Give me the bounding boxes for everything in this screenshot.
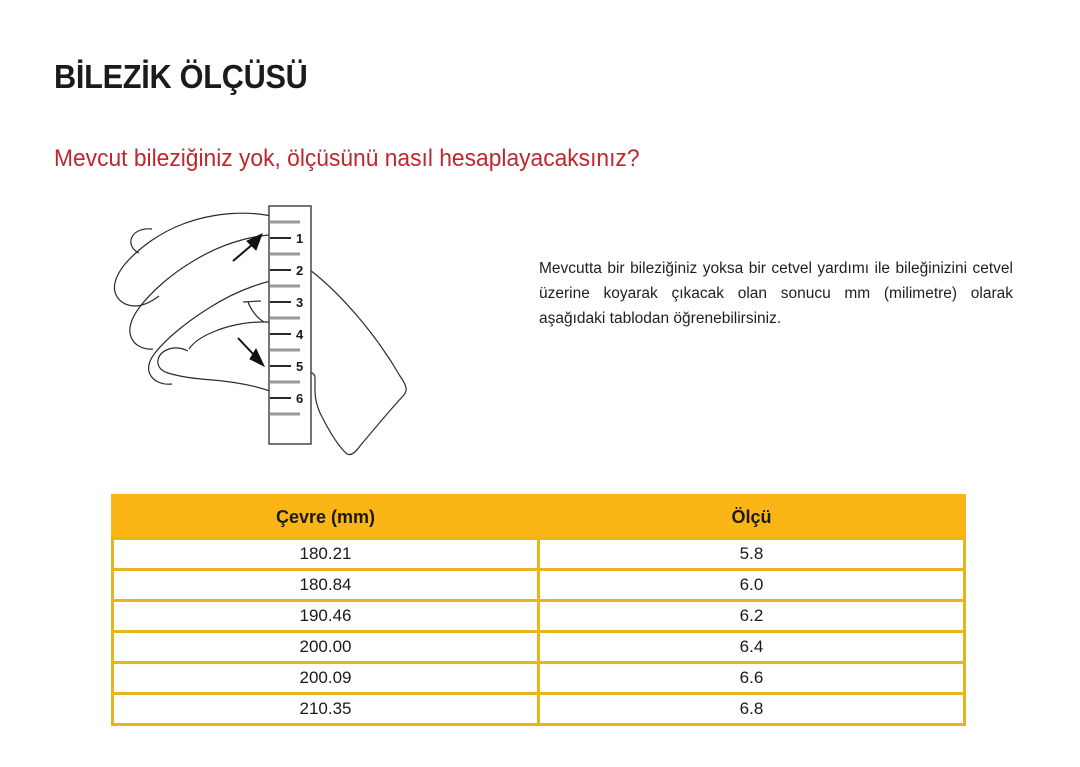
arrow-down-icon xyxy=(238,338,264,366)
table-row: 210.35 6.8 xyxy=(113,694,965,725)
description-text: Mevcutta bir bileziğiniz yoksa bir cetve… xyxy=(539,256,1013,331)
cell-circumference: 180.84 xyxy=(113,570,539,601)
cell-circumference: 200.00 xyxy=(113,632,539,663)
ruler-label-3: 3 xyxy=(296,295,303,310)
cell-size: 6.8 xyxy=(539,694,965,725)
ruler-label-1: 1 xyxy=(296,231,303,246)
cell-circumference: 210.35 xyxy=(113,694,539,725)
table-row: 190.46 6.2 xyxy=(113,601,965,632)
ruler-label-6: 6 xyxy=(296,391,303,406)
table-body: 180.21 5.8 180.84 6.0 190.46 6.2 200.00 … xyxy=(113,539,965,725)
size-chart-table: Çevre (mm) Ölçü 180.21 5.8 180.84 6.0 19… xyxy=(111,494,966,726)
column-header-size: Ölçü xyxy=(539,496,965,539)
ruler-body xyxy=(269,206,311,444)
ruler-label-4: 4 xyxy=(296,327,304,342)
table-row: 200.09 6.6 xyxy=(113,663,965,694)
table-row: 180.84 6.0 xyxy=(113,570,965,601)
cell-size: 5.8 xyxy=(539,539,965,570)
cell-circumference: 200.09 xyxy=(113,663,539,694)
table-row: 180.21 5.8 xyxy=(113,539,965,570)
page-title: BİLEZİK ÖLÇÜSÜ xyxy=(54,58,308,96)
ruler: 1 2 3 4 5 6 xyxy=(269,206,311,444)
description-paragraph: Mevcutta bir bileziğiniz yoksa bir cetve… xyxy=(539,256,1013,331)
cell-size: 6.0 xyxy=(539,570,965,601)
table-row: 200.00 6.4 xyxy=(113,632,965,663)
hand-ruler-illustration: 1 2 3 4 5 6 xyxy=(55,198,445,468)
cell-size: 6.6 xyxy=(539,663,965,694)
ruler-label-2: 2 xyxy=(296,263,303,278)
page-subtitle: Mevcut bileziğiniz yok, ölçüsünü nasıl h… xyxy=(54,145,640,173)
table-header-row: Çevre (mm) Ölçü xyxy=(113,496,965,539)
cell-circumference: 180.21 xyxy=(113,539,539,570)
cell-size: 6.4 xyxy=(539,632,965,663)
ruler-label-5: 5 xyxy=(296,359,303,374)
cell-circumference: 190.46 xyxy=(113,601,539,632)
cell-size: 6.2 xyxy=(539,601,965,632)
column-header-circumference: Çevre (mm) xyxy=(113,496,539,539)
